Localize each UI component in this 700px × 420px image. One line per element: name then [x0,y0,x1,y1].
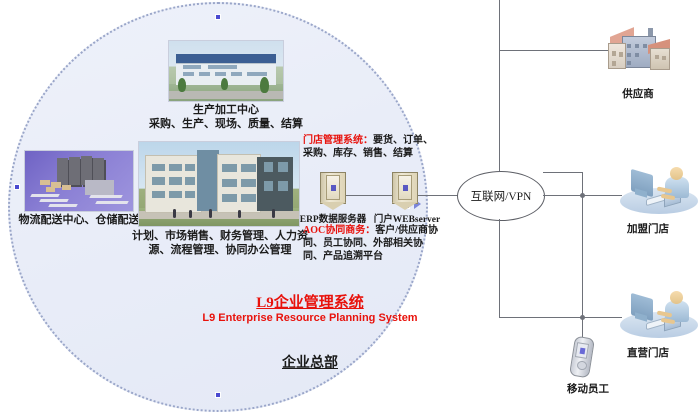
production-center-photo [168,40,284,102]
selection-handle-top[interactable] [215,14,221,20]
mobile-staff-label: 移动员工 [542,381,634,396]
logistics-center-photo [24,150,134,212]
link-portal-to-internet [418,195,458,196]
production-center-caption: 生产加工中心 采购、生产、现场、质量、结算 [148,104,304,132]
aoc-collaboration-head: AOC协同商务： [303,225,375,236]
portal-web-server-label: 门户WEBserver [362,211,452,225]
store-management-annotation: 门店管理系统：要货、订单、采购、库存、销售、结算 [303,134,435,160]
portal-web-server-icon[interactable] [392,172,418,210]
selection-handle-left[interactable] [14,184,20,190]
franchise-store-icon[interactable] [620,166,698,218]
supplier-label: 供应商 [598,86,678,101]
erp-data-server-icon[interactable] [320,172,346,210]
link-to-franchise-store [582,195,622,196]
link-erp-to-portal [345,195,394,196]
mobile-staff-icon[interactable] [572,337,592,377]
system-title-en: L9 Enterprise Resource Planning System [0,312,660,324]
link-internet-right-upper [543,172,583,173]
head-office-photo [138,141,300,227]
franchise-store-label: 加盟门店 [602,221,694,236]
direct-store-label: 直营门店 [602,345,694,360]
aoc-collaboration-annotation: AOC协同商务：客户/供应商协同、员工协同、外部相关协同、产品追溯平台 [303,224,439,263]
diagram-canvas: 生产加工中心 采购、生产、现场、质量、结算 物流配送中心、仓储配送 [0,0,700,420]
link-to-direct-store [582,317,622,318]
direct-store-icon[interactable] [620,290,698,342]
hq-label: 企业总部 [0,352,660,372]
internet-vpn-cloud[interactable]: 互联网/VPN [457,171,545,221]
logistics-center-caption: 物流配送中心、仓储配送 [18,214,140,228]
link-to-mobile-staff [582,317,583,337]
link-right-riser [582,172,583,195]
selection-handle-bottom[interactable] [215,392,221,398]
supplier-icon[interactable] [604,24,672,78]
link-internet-up [499,0,500,171]
store-management-head: 门店管理系统： [303,135,373,146]
internet-vpn-label: 互联网/VPN [471,188,532,204]
link-internet-right-mid [543,195,583,196]
head-office-caption: 计划、市场销售、财务管理、人力资源、流程管理、协同办公管理 [130,230,310,258]
link-internet-down [499,219,500,317]
system-title-cn: L9企业管理系统 [0,291,660,312]
link-to-supplier [499,50,609,51]
